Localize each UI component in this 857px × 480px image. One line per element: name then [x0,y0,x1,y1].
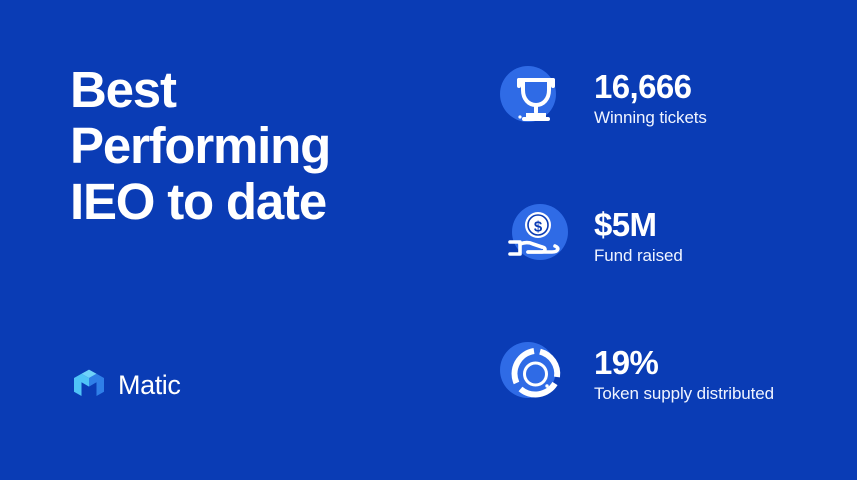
trophy-icon [498,60,574,136]
stat-label: Winning tickets [594,106,707,129]
stat-text: $5M Fund raised [594,206,683,267]
stat-item-winning-tickets: 16,666 Winning tickets [498,60,838,136]
headline-line-3: IEO to date [70,174,470,230]
stat-item-token-supply: 19% Token supply distributed [498,336,838,412]
stat-label: Fund raised [594,244,683,267]
svg-text:$: $ [534,219,543,236]
brand-lockup: Matic [72,368,181,402]
stat-value: 16,666 [594,68,707,106]
page-title: Best Performing IEO to date [70,62,470,230]
headline-line-1: Best [70,62,470,118]
hand-holding-coin-icon: $ [498,198,574,274]
matic-logo-icon [72,368,106,402]
stat-item-fund-raised: $ $5M Fund raised [498,198,838,274]
brand-name: Matic [118,372,181,399]
slide-root: Best Performing IEO to date Matic [0,0,857,480]
stats-list: 16,666 Winning tickets $ [498,60,838,412]
headline-line-2: Performing [70,118,470,174]
stat-text: 19% Token supply distributed [594,344,774,405]
stat-value: $5M [594,206,683,244]
donut-chart-icon [498,336,574,412]
stat-value: 19% [594,344,774,382]
stat-label: Token supply distributed [594,382,774,405]
stat-text: 16,666 Winning tickets [594,68,707,129]
